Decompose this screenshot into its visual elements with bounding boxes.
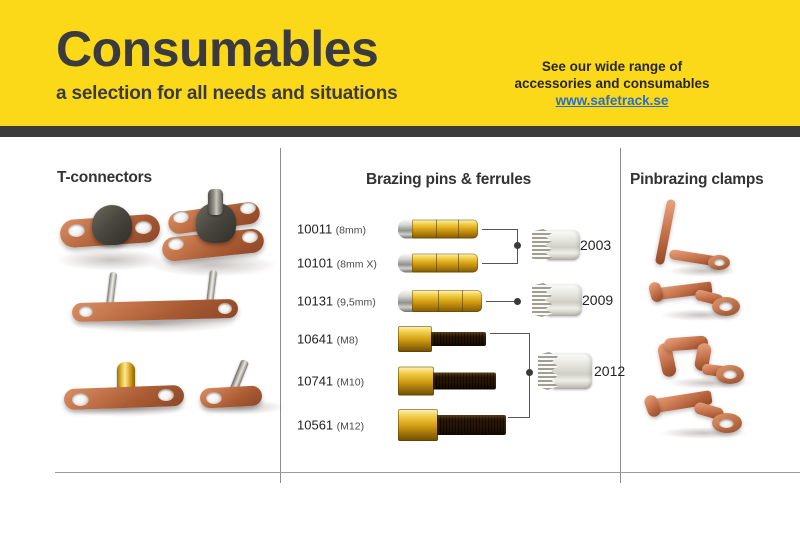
stud-head	[92, 205, 132, 245]
stud-pin	[208, 189, 223, 215]
pinbrazing-clamp-group	[620, 137, 800, 472]
promo-line-2: accessories and consumables	[514, 76, 709, 91]
ferrule-number: 2003	[580, 237, 611, 253]
pin-body	[412, 254, 478, 273]
pin-size: (M8)	[337, 335, 359, 347]
shadow	[668, 265, 738, 277]
leader-dot	[514, 298, 521, 305]
stud-thread	[433, 373, 496, 390]
bottom-rule	[55, 472, 800, 473]
pin-size: (M12)	[337, 421, 364, 433]
pin-label: 10641 (M8)	[297, 332, 358, 347]
table-row: 10561 (M12)	[280, 403, 620, 447]
pin-label: 10011 (8mm)	[297, 222, 366, 237]
pin-size: (8mm X)	[337, 259, 377, 271]
shadow	[660, 427, 748, 439]
stud-thread	[437, 415, 506, 435]
pin-code: 10741	[297, 374, 333, 389]
pin-label: 10131 (9,5mm)	[297, 294, 376, 309]
leader-line	[482, 229, 518, 230]
brazing-pin-graphic	[398, 220, 478, 239]
page-subtitle: a selection for all needs and situations	[56, 84, 397, 103]
pin-size: (8mm)	[336, 225, 366, 237]
website-link[interactable]: www.safetrack.se	[502, 92, 722, 109]
leader-line	[482, 263, 518, 264]
brazing-stud-graphic	[398, 411, 506, 439]
leader-line	[490, 333, 530, 334]
mounting-hole	[158, 389, 174, 401]
promo-block: See our wide range of accessories and co…	[502, 58, 722, 109]
pin-code: 10641	[297, 332, 333, 347]
pin-label: 10741 (M10)	[297, 374, 364, 389]
mounting-hole	[218, 303, 232, 314]
brazing-pin-list: 10011 (8mm) 10101 (8mm X)	[280, 137, 620, 472]
brazing-stud-graphic	[398, 328, 486, 350]
stud-thread	[431, 332, 486, 346]
leader-dot	[514, 242, 521, 249]
content-area: T-connectors Brazing pins & ferrules Pin…	[0, 137, 800, 534]
ferrule-2009	[532, 284, 568, 316]
stud-collar	[398, 367, 434, 396]
pin-label: 10101 (8mm X)	[297, 256, 377, 271]
pin-code: 10131	[297, 294, 333, 309]
pin-tip	[398, 290, 413, 312]
mounting-hole	[206, 392, 222, 404]
page-header: Consumables a selection for all needs an…	[0, 0, 800, 126]
pin-label: 10561 (M12)	[297, 418, 364, 433]
mounting-hole	[79, 306, 93, 317]
ferrule-number: 2009	[582, 292, 613, 308]
pin-tip	[398, 254, 413, 273]
pin-code: 10101	[297, 256, 333, 271]
pin-tip	[398, 220, 413, 239]
ferrule-2012	[538, 353, 578, 389]
brazing-pin-graphic	[398, 254, 478, 273]
pin-code: 10011	[297, 222, 332, 237]
ferrule-body	[546, 230, 580, 260]
leader-line	[508, 417, 530, 418]
brazing-pin-graphic	[398, 290, 482, 312]
ferrule-body	[546, 284, 582, 316]
pin-size: (9,5mm)	[337, 297, 376, 309]
page-title: Consumables	[56, 24, 378, 74]
promo-line-1: See our wide range of	[542, 59, 682, 74]
mounting-hole	[72, 393, 89, 406]
pin-body	[412, 290, 482, 312]
header-accent-bar	[0, 126, 800, 137]
shadow	[668, 377, 750, 389]
ferrule-2003	[532, 230, 566, 260]
pin-size: (M10)	[337, 377, 364, 389]
shadow	[660, 309, 742, 321]
stud-collar	[398, 326, 432, 352]
pin-code: 10561	[297, 418, 333, 433]
leader-dot	[526, 369, 533, 376]
ferrule-body	[552, 353, 592, 389]
brazing-stud-graphic	[398, 369, 496, 394]
pin-body	[412, 220, 478, 239]
column-title-t-connectors: T-connectors	[57, 169, 152, 187]
clamp-hook	[647, 281, 664, 304]
stud-collar	[398, 409, 438, 441]
